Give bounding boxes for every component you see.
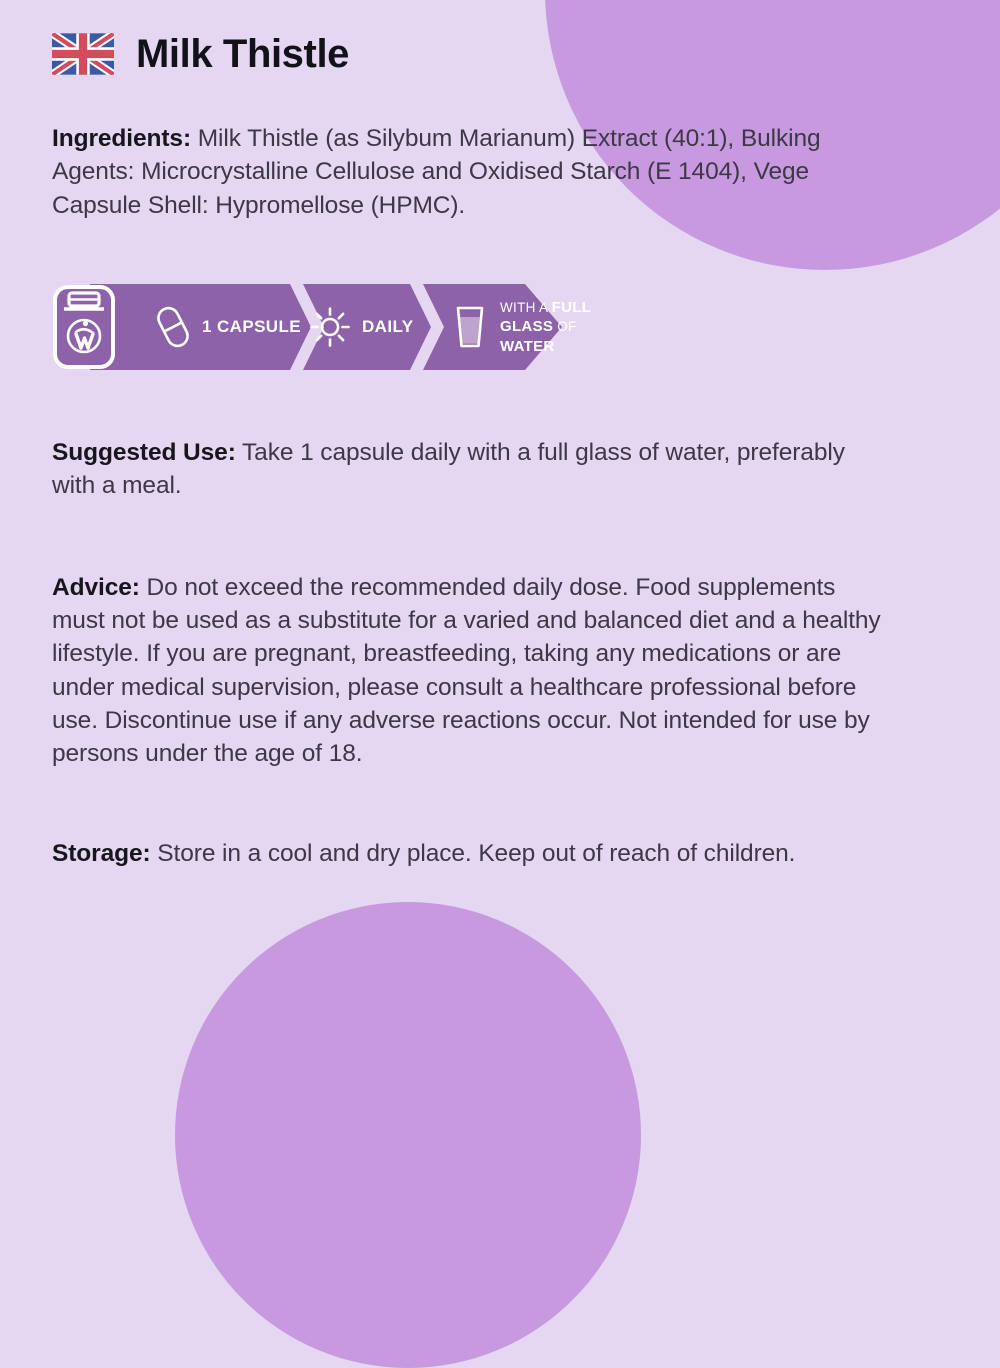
ingredients-label: Ingredients: [52,125,191,152]
uk-flag-icon [52,33,114,75]
storage-label: Storage: [52,840,151,867]
storage-text: Store in a cool and dry place. Keep out … [151,840,796,867]
water-line2-regular: OF [553,319,576,334]
daily-segment: DAILY [310,284,413,370]
daily-label: DAILY [362,317,413,337]
water-line1-regular: WITH A [500,300,552,315]
sun-icon [310,307,350,347]
supplement-bottle-icon [52,284,116,370]
capsule-label: 1 CAPSULE [202,317,301,337]
ingredients-section: Ingredients: Milk Thistle (as Silybum Ma… [52,122,882,222]
water-instruction-label: WITH A FULL GLASS OF WATER [500,298,591,356]
water-line3-bold: WATER [500,338,555,355]
advice-section: Advice: Do not exceed the recommended da… [52,571,882,771]
page-header: Milk Thistle [52,0,948,75]
water-line1-bold: FULL [552,299,592,316]
capsule-segment: 1 CAPSULE [156,284,301,370]
advice-label: Advice: [52,574,140,601]
product-label-page: Milk Thistle Ingredients: Milk Thistle (… [0,0,1000,871]
water-line2-bold: GLASS [500,318,553,335]
suggested-use-section: Suggested Use: Take 1 capsule daily with… [52,436,882,503]
advice-text: Do not exceed the recommended daily dose… [52,574,881,768]
water-glass-icon [452,304,488,350]
suggested-use-label: Suggested Use: [52,439,236,466]
water-segment: WITH A FULL GLASS OF WATER [452,284,591,370]
dosage-instruction-banner: 1 CAPSULE DAILY [52,284,562,370]
storage-section: Storage: Store in a cool and dry place. … [52,837,882,870]
page-title: Milk Thistle [136,34,349,74]
decorative-circle-bottom [175,902,641,1368]
capsule-icon [156,304,190,350]
